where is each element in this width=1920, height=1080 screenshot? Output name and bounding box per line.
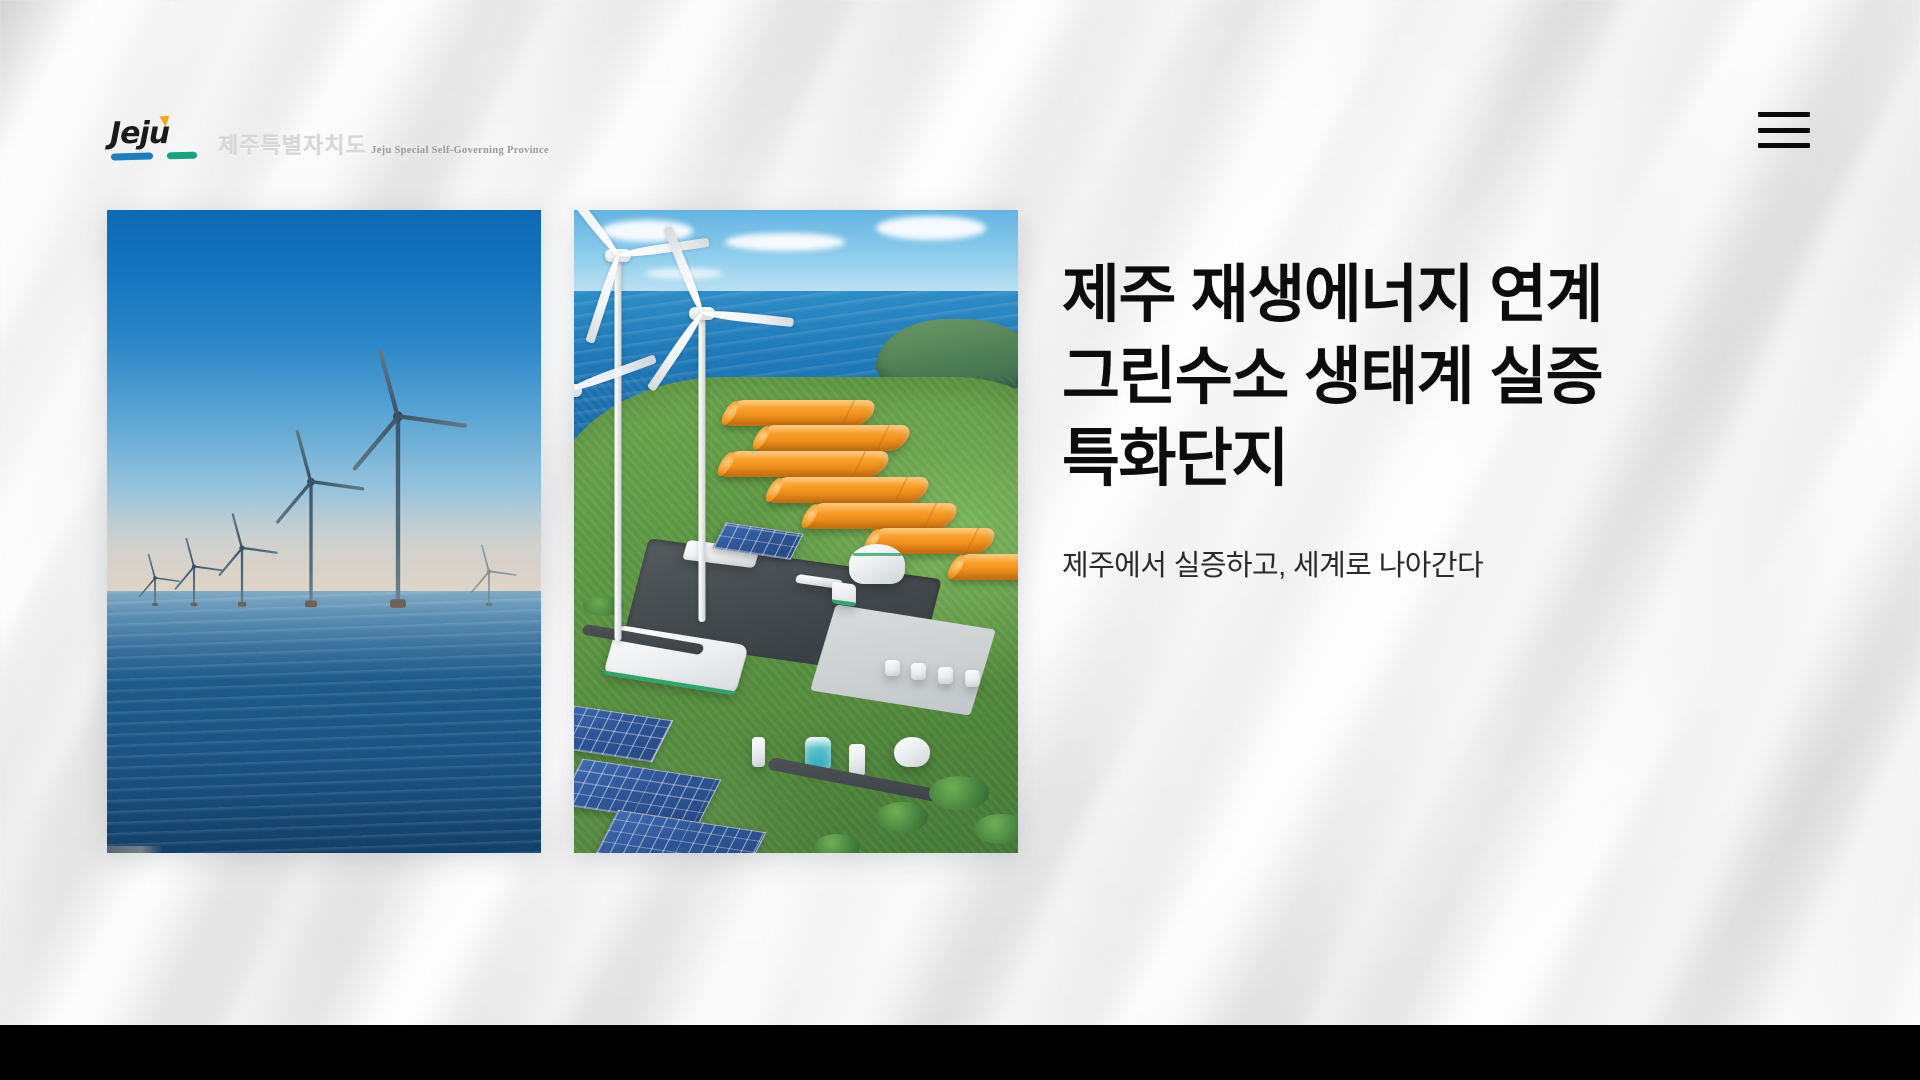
wind-turbine	[481, 572, 496, 606]
offshore-wind-farm-photo[interactable]	[107, 210, 541, 853]
equipment-box	[938, 667, 953, 684]
turbine-mast	[699, 313, 706, 622]
equipment-box	[911, 663, 926, 680]
hero-copy: 제주 재생에너지 연계 그린수소 생태계 실증 특화단지 제주에서 실증하고, …	[1062, 255, 1862, 584]
jeju-wordmark-icon: Jeju	[110, 119, 200, 161]
wind-sea	[107, 591, 541, 853]
turbine-mast	[240, 548, 242, 605]
menu-bar-bottom	[1758, 143, 1810, 148]
jeju-province-logo[interactable]: Jeju 제주특별자치도 Jeju Special Self-Governing…	[110, 119, 549, 161]
brand-title-english: Jeju Special Self-Governing Province	[371, 145, 549, 156]
equipment-box	[885, 660, 900, 676]
equipment-box	[965, 670, 980, 687]
control-cabinet	[832, 581, 856, 606]
hydrogen-storage-tank	[945, 554, 1018, 580]
turbine-mast	[309, 482, 312, 605]
bottom-black-bar	[0, 1025, 1920, 1080]
turbine-base	[305, 601, 317, 608]
wind-turbine	[186, 567, 202, 605]
turbine-base	[152, 603, 158, 606]
wind-turbine	[296, 482, 325, 605]
page-subtitle: 제주에서 실증하고, 세계로 나아간다	[1062, 542, 1862, 584]
cloud	[725, 233, 845, 251]
turbine-base	[390, 600, 406, 609]
shrub	[814, 834, 860, 853]
hydrogen-storage-tank	[750, 425, 915, 451]
hero-page: Jeju 제주특별자치도 Jeju Special Self-Governing…	[0, 0, 1920, 1080]
wind-turbine	[232, 548, 252, 605]
turbine-mast	[615, 255, 622, 641]
dispenser-unit	[849, 744, 865, 776]
blue-stroke-icon	[111, 152, 153, 160]
utility-post	[752, 737, 765, 767]
render-wind-turbine	[605, 255, 631, 641]
render-wind-turbine	[689, 313, 715, 622]
shrub	[929, 776, 989, 810]
brand-title-korean: 제주특별자치도	[218, 133, 367, 158]
page-title: 제주 재생에너지 연계 그린수소 생태계 실증 특화단지	[1062, 255, 1862, 501]
green-hydrogen-complex-render[interactable]	[574, 210, 1018, 853]
turbine-base	[486, 603, 492, 606]
green-stroke-icon	[167, 152, 197, 160]
hydrogen-storage-tank	[799, 503, 962, 529]
turbine-mast	[154, 578, 156, 605]
hydrogen-storage-tank	[763, 477, 934, 503]
turbine-mast	[488, 572, 490, 606]
menu-bar-middle	[1758, 128, 1810, 133]
hydrogen-reactor-silo	[849, 544, 905, 584]
wind-scene	[107, 210, 541, 853]
turbine-base	[190, 603, 197, 607]
shrub	[876, 802, 928, 832]
menu-bar-top	[1758, 112, 1810, 117]
turbine-base	[237, 602, 245, 607]
wind-turbine	[379, 417, 417, 606]
brand-text-block: 제주특별자치도 Jeju Special Self-Governing Prov…	[218, 133, 549, 159]
hydrogen-storage-tank	[719, 400, 880, 426]
turbine-mast	[193, 567, 195, 605]
distant-shoreline	[107, 846, 163, 853]
turbine-mast	[396, 417, 400, 606]
wind-turbine	[148, 578, 162, 605]
site-header: Jeju 제주특별자치도 Jeju Special Self-Governing…	[0, 0, 1920, 235]
plant-scene	[574, 210, 1018, 853]
render-wind-turbine	[574, 390, 582, 744]
hydrogen-storage-tank	[714, 451, 893, 477]
orange-accent-icon	[159, 116, 170, 128]
pressure-vessel	[894, 737, 930, 767]
hamburger-menu-icon[interactable]	[1758, 108, 1810, 152]
